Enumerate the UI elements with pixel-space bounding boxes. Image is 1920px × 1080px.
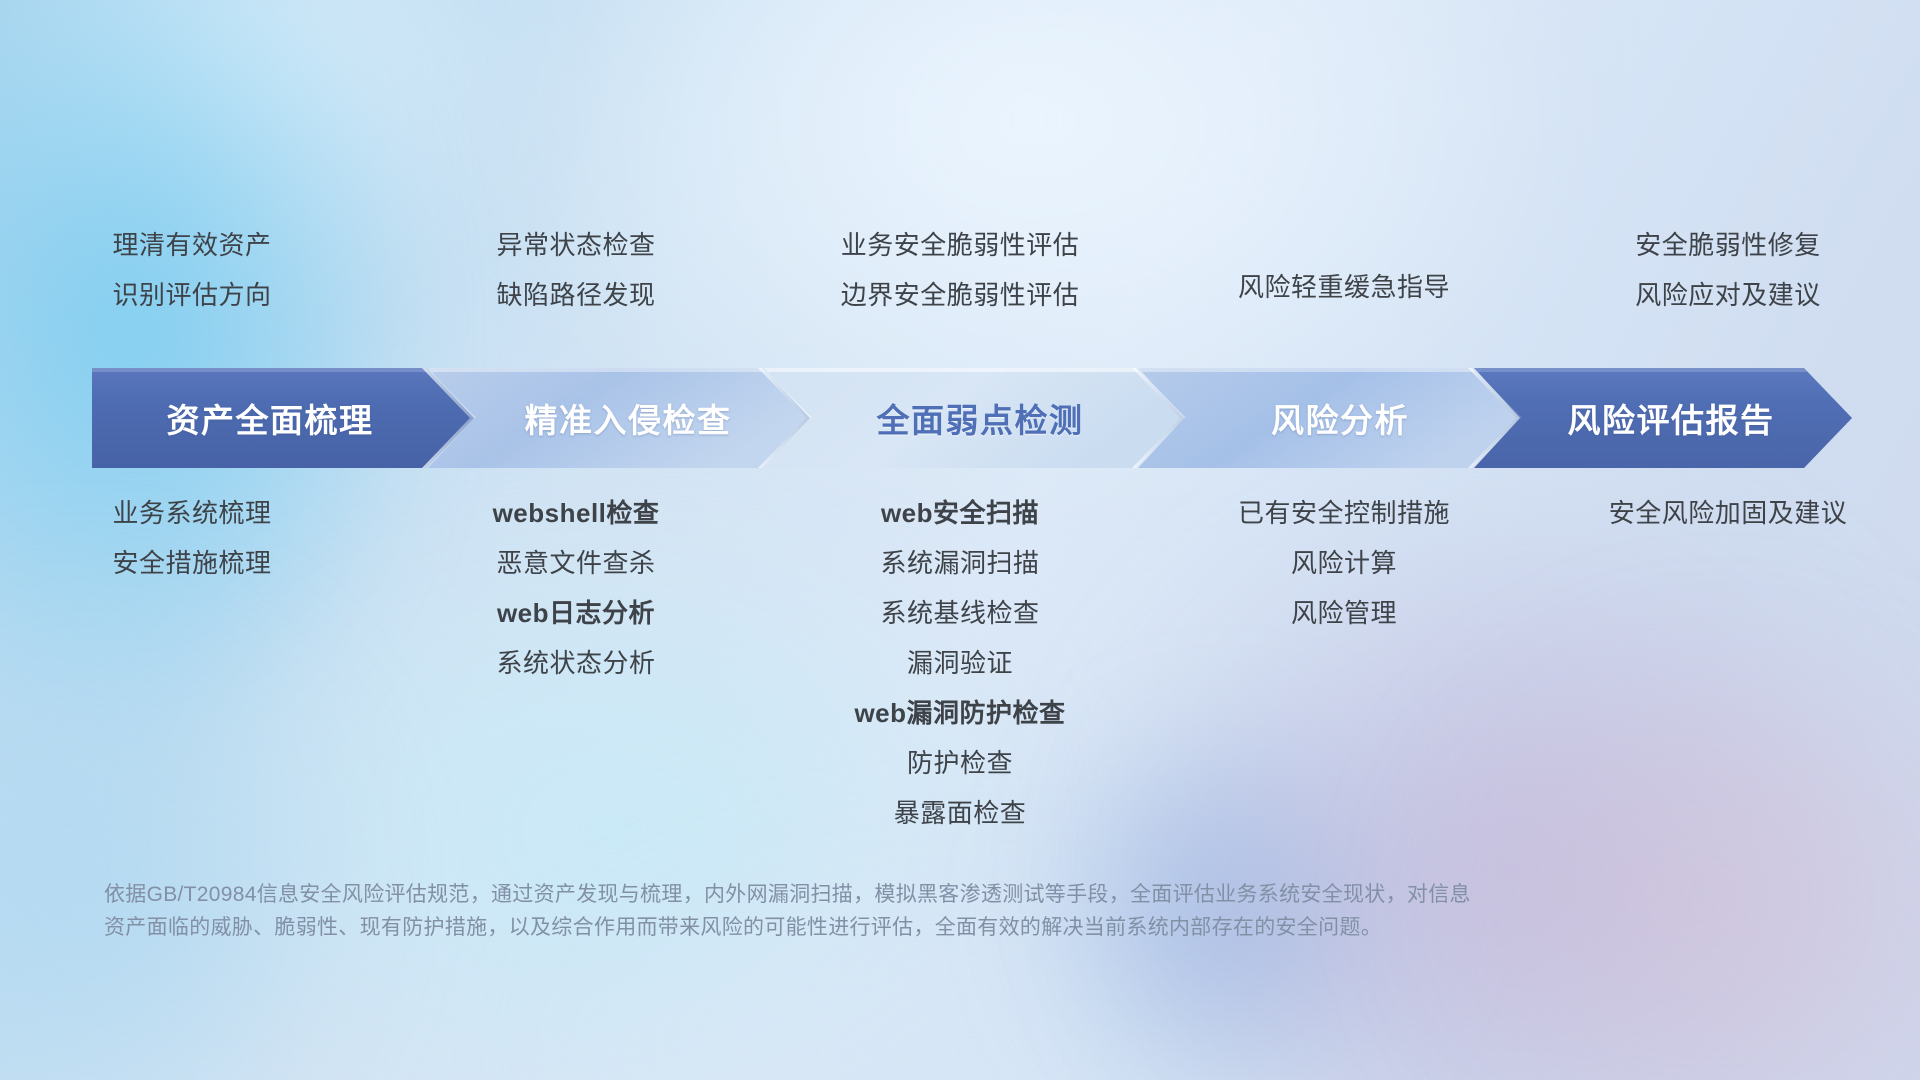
top-column-intrusion-check: 异常状态检查 缺陷路径发现 xyxy=(384,232,768,342)
stage-chevron-risk-analysis[interactable]: 风险分析 xyxy=(1138,368,1520,468)
footer-line-2: 资产面临的威胁、脆弱性、现有防护措施，以及综合作用而带来风险的可能性进行评估，全… xyxy=(104,911,1624,944)
bottom-item: web日志分析 xyxy=(497,600,655,626)
bottom-column-risk-analysis: 已有安全控制措施 风险计算 风险管理 xyxy=(1152,500,1536,626)
bottom-column-asset-inventory: 业务系统梳理 安全措施梳理 xyxy=(0,500,384,576)
stage-label: 风险分析 xyxy=(1138,394,1520,442)
bottom-item: webshell检查 xyxy=(493,500,660,526)
bottom-item: 已有安全控制措施 xyxy=(1238,500,1450,526)
bottom-column-intrusion-check: webshell检查 恶意文件查杀 web日志分析 系统状态分析 xyxy=(384,500,768,676)
process-chevron-banner: 资产全面梳理 xyxy=(92,368,1852,468)
footer-description: 依据GB/T20984信息安全风险评估规范，通过资产发现与梳理，内外网漏洞扫描，… xyxy=(104,878,1624,944)
bottom-item: 恶意文件查杀 xyxy=(496,550,655,576)
bottom-item: 风险管理 xyxy=(1291,600,1397,626)
top-item: 缺陷路径发现 xyxy=(496,282,655,308)
bottom-labels-row: 业务系统梳理 安全措施梳理 webshell检查 恶意文件查杀 web日志分析 … xyxy=(0,500,1920,830)
stage-label: 风险评估报告 xyxy=(1474,394,1852,442)
top-item: 边界安全脆弱性评估 xyxy=(841,282,1080,308)
bottom-item: 风险计算 xyxy=(1291,550,1397,576)
bottom-item: 系统基线检查 xyxy=(880,600,1039,626)
top-item: 异常状态检查 xyxy=(496,232,655,258)
bottom-item: 系统状态分析 xyxy=(496,650,655,676)
top-item: 业务安全脆弱性评估 xyxy=(841,232,1080,258)
top-column-risk-report: 安全脆弱性修复 风险应对及建议 xyxy=(1536,232,1920,342)
stage-chevron-asset-inventory[interactable]: 资产全面梳理 xyxy=(92,368,474,468)
bottom-item: 漏洞验证 xyxy=(907,650,1013,676)
bottom-item: 防护检查 xyxy=(907,750,1013,776)
stage-chevron-weakness-detection[interactable]: 全面弱点检测 xyxy=(764,368,1184,468)
bottom-column-risk-report: 安全风险加固及建议 xyxy=(1536,500,1920,526)
top-item: 安全脆弱性修复 xyxy=(1635,232,1821,258)
stage-label: 全面弱点检测 xyxy=(764,394,1184,442)
top-column-weakness-detection: 业务安全脆弱性评估 边界安全脆弱性评估 xyxy=(768,232,1152,342)
stage-chevron-intrusion-check[interactable]: 精准入侵检查 xyxy=(428,368,810,468)
top-column-risk-analysis: 风险轻重缓急指导 xyxy=(1152,232,1536,342)
bottom-item: 业务系统梳理 xyxy=(112,500,271,526)
stage-label: 精准入侵检查 xyxy=(428,394,810,442)
bottom-item: web漏洞防护检查 xyxy=(854,700,1065,726)
top-labels-row: 理清有效资产 识别评估方向 异常状态检查 缺陷路径发现 业务安全脆弱性评估 边界… xyxy=(0,232,1920,342)
footer-line-1: 依据GB/T20984信息安全风险评估规范，通过资产发现与梳理，内外网漏洞扫描，… xyxy=(104,878,1624,911)
bottom-item: web安全扫描 xyxy=(881,500,1039,526)
top-item: 风险应对及建议 xyxy=(1635,282,1821,308)
bottom-item: 安全风险加固及建议 xyxy=(1609,500,1848,526)
stage-chevron-risk-report[interactable]: 风险评估报告 xyxy=(1474,368,1852,468)
top-item: 风险轻重缓急指导 xyxy=(1238,274,1450,300)
bottom-item: 暴露面检查 xyxy=(894,800,1027,826)
bottom-column-weakness-detection: web安全扫描 系统漏洞扫描 系统基线检查 漏洞验证 web漏洞防护检查 防护检… xyxy=(768,500,1152,826)
bottom-item: 系统漏洞扫描 xyxy=(880,550,1039,576)
top-item: 理清有效资产 xyxy=(112,232,271,258)
stage-label: 资产全面梳理 xyxy=(92,394,474,442)
top-item: 识别评估方向 xyxy=(112,282,271,308)
bottom-item: 安全措施梳理 xyxy=(112,550,271,576)
top-column-asset-inventory: 理清有效资产 识别评估方向 xyxy=(0,232,384,342)
